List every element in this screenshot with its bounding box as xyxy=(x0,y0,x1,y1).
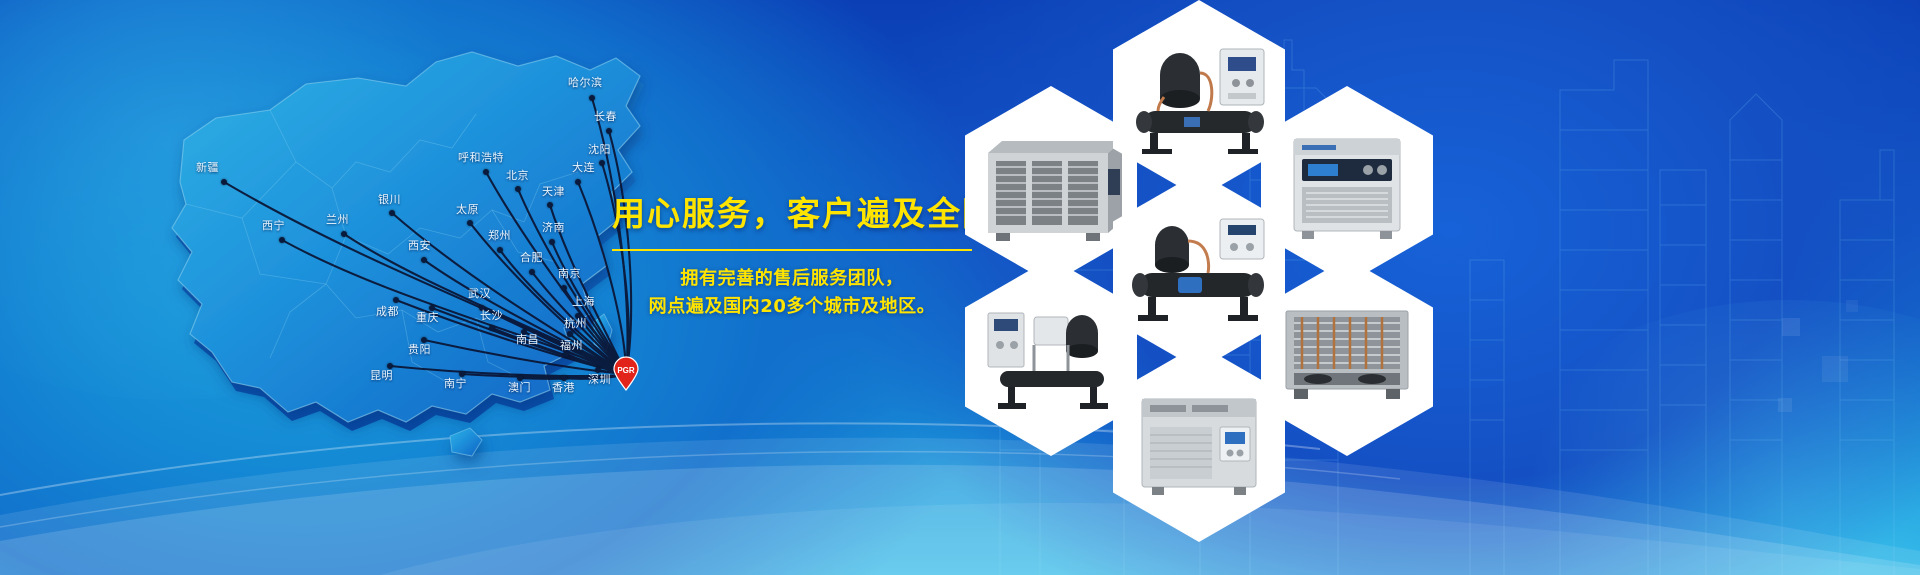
decor-square-2 xyxy=(1822,356,1848,382)
decor-square-3 xyxy=(1778,398,1792,412)
city-dot xyxy=(279,237,285,243)
city-label: 深圳 xyxy=(588,374,611,385)
decor-square-1 xyxy=(1782,318,1800,336)
city-dot xyxy=(389,210,395,216)
city-label: 南京 xyxy=(558,268,581,279)
city-label: 大连 xyxy=(572,162,595,173)
city-label: 沈阳 xyxy=(588,144,611,155)
city-label: 呼和浩特 xyxy=(458,152,504,163)
city-dot xyxy=(483,169,489,175)
product-hex-industrial-box-chiller[interactable] xyxy=(1113,344,1285,542)
city-dot xyxy=(547,202,553,208)
city-dot xyxy=(567,331,573,337)
page-title: 用心服务，客户遍及全国 xyxy=(612,196,972,232)
city-dot xyxy=(515,186,521,192)
city-label: 天津 xyxy=(542,186,565,197)
product-hex-water-cooled-screw-chiller[interactable] xyxy=(1113,0,1285,198)
city-label: 南昌 xyxy=(516,334,539,345)
city-label: 长沙 xyxy=(480,310,503,321)
city-label: 新疆 xyxy=(196,162,219,173)
city-label: 西安 xyxy=(408,240,431,251)
product-image-air-cooled-condenser xyxy=(1265,262,1429,452)
city-label: 西宁 xyxy=(262,220,285,231)
city-label: 哈尔滨 xyxy=(568,77,603,88)
product-hex-air-cooled-box-chiller[interactable] xyxy=(965,86,1137,284)
city-label: 武汉 xyxy=(468,288,491,299)
decor-square-4 xyxy=(1846,300,1858,312)
map-landmass xyxy=(172,52,640,456)
product-hex-open-frame-condensing-unit[interactable] xyxy=(965,258,1137,456)
city-dot xyxy=(421,257,427,263)
product-hex-gallery xyxy=(965,0,1525,575)
promo-banner: PGR 哈尔滨长春沈阳大连北京天津呼和浩特银川太原济南郑州新疆西宁兰州西安合肥南… xyxy=(0,0,1920,575)
headquarters-marker: PGR xyxy=(614,357,638,390)
city-label: 贵阳 xyxy=(408,344,431,355)
city-label: 昆明 xyxy=(370,370,393,381)
city-dot xyxy=(467,220,473,226)
subtitle-line-2: 网点遍及国内20多个城市及地区。 xyxy=(612,293,972,321)
city-label: 澳门 xyxy=(508,382,531,393)
city-label: 香港 xyxy=(552,382,575,393)
product-hex-screw-compressor-unit[interactable] xyxy=(1113,172,1285,370)
city-dot xyxy=(341,231,347,237)
product-hex-air-cooled-condenser[interactable] xyxy=(1261,258,1433,456)
city-label: 济南 xyxy=(542,222,565,233)
city-label: 银川 xyxy=(378,194,401,205)
city-dot xyxy=(549,239,555,245)
city-label: 长春 xyxy=(594,111,617,122)
city-dot xyxy=(529,269,535,275)
city-dot xyxy=(221,179,227,185)
product-image-industrial-box-chiller xyxy=(1117,348,1281,538)
city-dot xyxy=(589,95,595,101)
product-hex-portable-air-cooled-chiller[interactable] xyxy=(1261,86,1433,284)
city-label: 合肥 xyxy=(520,252,543,263)
city-label: 兰州 xyxy=(326,214,349,225)
city-dot xyxy=(561,285,567,291)
city-label: 北京 xyxy=(506,170,529,181)
city-dot xyxy=(599,160,605,166)
city-label: 郑州 xyxy=(488,230,511,241)
product-image-portable-air-cooled-chiller xyxy=(1265,90,1429,280)
product-image-open-frame-condensing-unit xyxy=(969,262,1133,452)
city-dot xyxy=(393,297,399,303)
city-dot xyxy=(606,128,612,134)
city-label: 南宁 xyxy=(444,378,467,389)
city-label: 上海 xyxy=(572,296,595,307)
title-divider xyxy=(612,249,972,251)
product-image-screw-compressor-unit xyxy=(1117,176,1281,366)
city-label: 福州 xyxy=(560,340,583,351)
subtitle-line-1: 拥有完善的售后服务团队， xyxy=(612,265,972,293)
city-dot xyxy=(575,179,581,185)
city-dot xyxy=(489,325,495,331)
city-label: 重庆 xyxy=(416,312,439,323)
product-image-air-cooled-box-chiller xyxy=(969,90,1133,280)
city-label: 杭州 xyxy=(564,318,587,329)
city-label: 成都 xyxy=(376,306,399,317)
product-image-water-cooled-screw-chiller xyxy=(1117,4,1281,194)
svg-text:PGR: PGR xyxy=(617,366,635,375)
city-dot xyxy=(497,247,503,253)
city-label: 太原 xyxy=(456,204,479,215)
headline-copy-block: 用心服务，客户遍及全国 拥有完善的售后服务团队， 网点遍及国内20多个城市及地区… xyxy=(612,196,972,321)
background-glow-right xyxy=(1480,300,1920,575)
